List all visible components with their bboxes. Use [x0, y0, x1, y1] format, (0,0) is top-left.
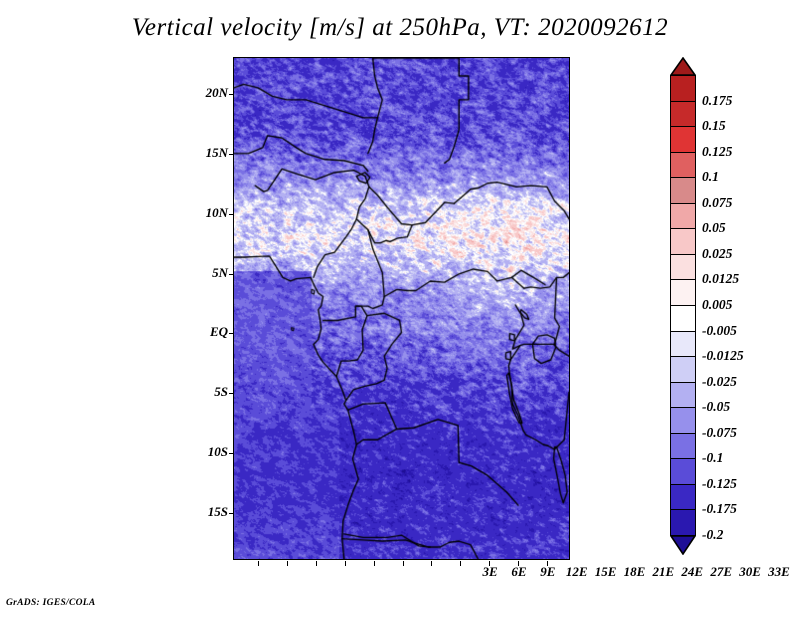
- x-tick: [345, 561, 346, 566]
- x-tick: [258, 561, 259, 566]
- x-axis-label: 12E: [566, 564, 588, 580]
- y-axis-label: 10N: [206, 205, 228, 221]
- colorbar-label: -0.0125: [702, 348, 744, 364]
- colorbar-label: -0.2: [702, 527, 723, 543]
- colorbar-band: [670, 509, 696, 536]
- colorbar-band: [670, 433, 696, 460]
- y-tick: [229, 333, 234, 334]
- y-tick: [229, 393, 234, 394]
- colorbar-band: [670, 228, 696, 255]
- y-axis-labels: 20N15N10N5NEQ5S10S15S: [190, 57, 228, 560]
- colorbar-band: [670, 484, 696, 511]
- colorbar-label: -0.175: [702, 501, 737, 517]
- y-axis-label: 5S: [214, 384, 228, 400]
- colorbar-band: [670, 305, 696, 332]
- colorbar-band: [670, 126, 696, 153]
- colorbar-band: [670, 458, 696, 485]
- x-axis-label: 18E: [624, 564, 646, 580]
- colorbar-label: 0.005: [702, 297, 732, 313]
- colorbar-band: [670, 356, 696, 383]
- y-tick: [229, 154, 234, 155]
- x-tick: [460, 561, 461, 566]
- colorbar-top-arrow: [670, 57, 696, 75]
- y-axis-label: 15S: [208, 504, 228, 520]
- colorbar-band: [670, 177, 696, 204]
- grads-attribution: GrADS: IGES/COLA: [6, 598, 96, 608]
- colorbar-label: -0.005: [702, 323, 737, 339]
- x-axis-label: 9E: [540, 564, 555, 580]
- colorbar-band: [670, 279, 696, 306]
- colorbar-label: 0.075: [702, 195, 732, 211]
- colorbar-band: [670, 152, 696, 179]
- colorbar-band: [670, 407, 696, 434]
- x-axis-label: 6E: [511, 564, 526, 580]
- colorbar-band: [670, 203, 696, 230]
- x-axis-label: 15E: [595, 564, 617, 580]
- x-tick: [374, 561, 375, 566]
- x-tick: [431, 561, 432, 566]
- map-plot-area: [233, 57, 570, 560]
- colorbar-label: 0.1: [702, 169, 719, 185]
- colorbar-label: -0.125: [702, 476, 737, 492]
- map-overlay-borders: [234, 58, 569, 559]
- page-title: Vertical velocity [m/s] at 250hPa, VT: 2…: [0, 14, 800, 42]
- x-tick: [316, 561, 317, 566]
- colorbar-band: [670, 101, 696, 128]
- y-tick: [229, 274, 234, 275]
- y-axis-label: 15N: [206, 145, 228, 161]
- y-tick: [229, 513, 234, 514]
- x-tick: [287, 561, 288, 566]
- colorbar-label: 0.0125: [702, 271, 739, 287]
- y-tick: [229, 453, 234, 454]
- colorbar-label: -0.05: [702, 399, 730, 415]
- colorbar-label: -0.025: [702, 374, 737, 390]
- x-axis-label: 24E: [681, 564, 703, 580]
- colorbar-label: 0.125: [702, 144, 732, 160]
- colorbar-band: [670, 75, 696, 102]
- colorbar-label: 0.05: [702, 220, 726, 236]
- x-tick: [403, 561, 404, 566]
- colorbar-band: [670, 331, 696, 358]
- colorbar-label: -0.075: [702, 425, 737, 441]
- x-axis-label: 21E: [653, 564, 675, 580]
- y-axis-label: 5N: [212, 265, 228, 281]
- y-axis-label: 10S: [208, 444, 228, 460]
- colorbar-label: 0.025: [702, 246, 732, 262]
- colorbar-label: 0.15: [702, 118, 726, 134]
- colorbar-band: [670, 254, 696, 281]
- colorbar-bottom-arrow: [670, 535, 696, 553]
- colorbar-label: -0.1: [702, 450, 723, 466]
- y-tick: [229, 94, 234, 95]
- colorbar: 0.1750.150.1250.10.0750.050.0250.01250.0…: [670, 57, 696, 553]
- y-axis-label: 20N: [206, 85, 228, 101]
- colorbar-band: [670, 382, 696, 409]
- y-tick: [229, 214, 234, 215]
- x-axis-label: 30E: [739, 564, 761, 580]
- colorbar-label: 0.175: [702, 93, 732, 109]
- x-axis-label: 27E: [710, 564, 732, 580]
- y-axis-label: EQ: [210, 324, 228, 340]
- x-axis-label: 3E: [482, 564, 497, 580]
- x-axis-label: 33E: [768, 564, 790, 580]
